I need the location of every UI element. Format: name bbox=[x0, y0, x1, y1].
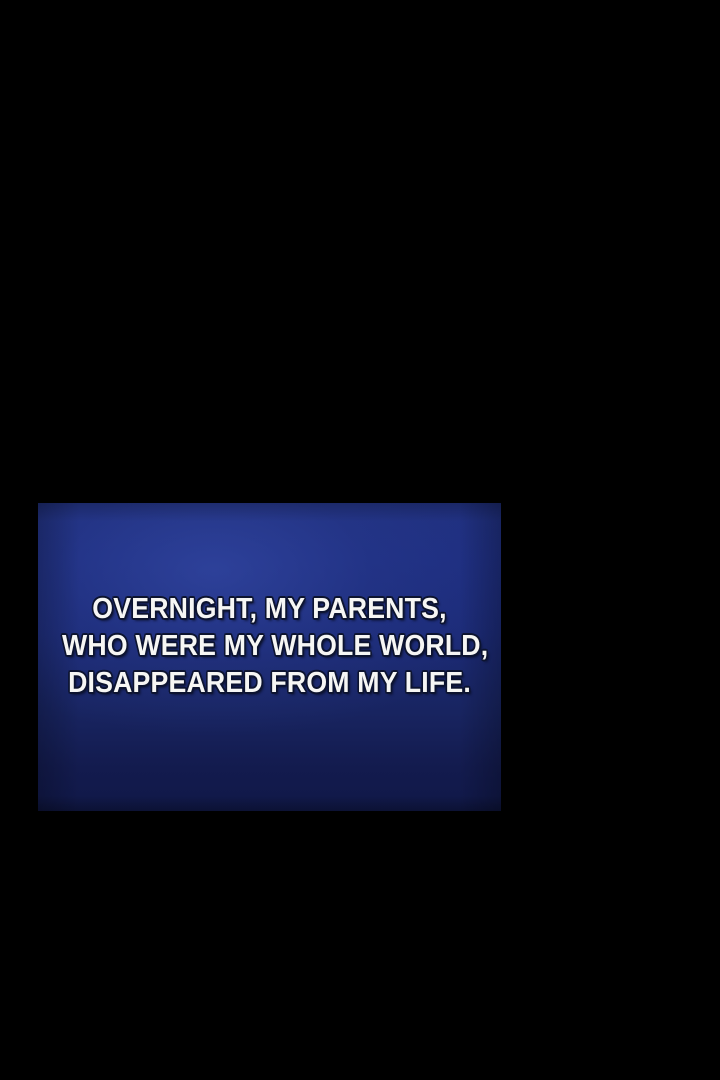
caption-block: OVERNIGHT, MY PARENTS, WHO WERE MY WHOLE… bbox=[38, 591, 501, 702]
caption-line-2: WHO WERE MY WHOLE WORLD, bbox=[62, 628, 477, 665]
caption-line-1: OVERNIGHT, MY PARENTS, bbox=[62, 591, 477, 628]
comic-page: OVERNIGHT, MY PARENTS, WHO WERE MY WHOLE… bbox=[0, 0, 720, 1080]
story-panel: OVERNIGHT, MY PARENTS, WHO WERE MY WHOLE… bbox=[38, 503, 501, 811]
caption-line-3: DISAPPEARED FROM MY LIFE. bbox=[62, 665, 477, 702]
